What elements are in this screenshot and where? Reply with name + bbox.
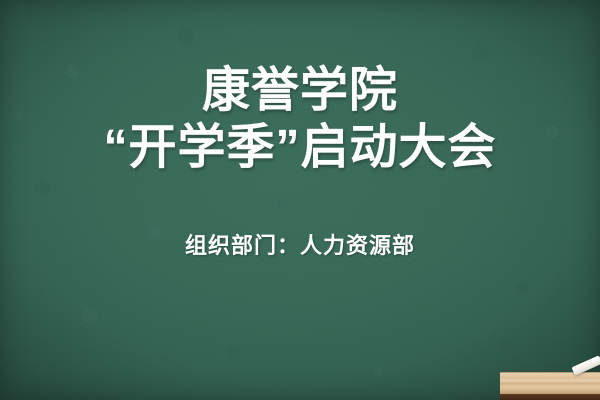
presentation-slide: 康誉学院 “开学季”启动大会 组织部门：人力资源部: [0, 0, 600, 400]
title-line-1: 康誉学院: [103, 62, 496, 119]
slide-title: 康誉学院 “开学季”启动大会: [103, 62, 496, 176]
slide-content: 康誉学院 “开学季”启动大会 组织部门：人力资源部: [0, 0, 600, 400]
title-line-2: “开学季”启动大会: [103, 119, 496, 176]
slide-subtitle: 组织部门：人力资源部: [185, 228, 415, 260]
chalk-ledge-base: [500, 394, 600, 400]
chalk-ledge: [500, 372, 600, 400]
chalk-ledge-body: [500, 372, 600, 395]
